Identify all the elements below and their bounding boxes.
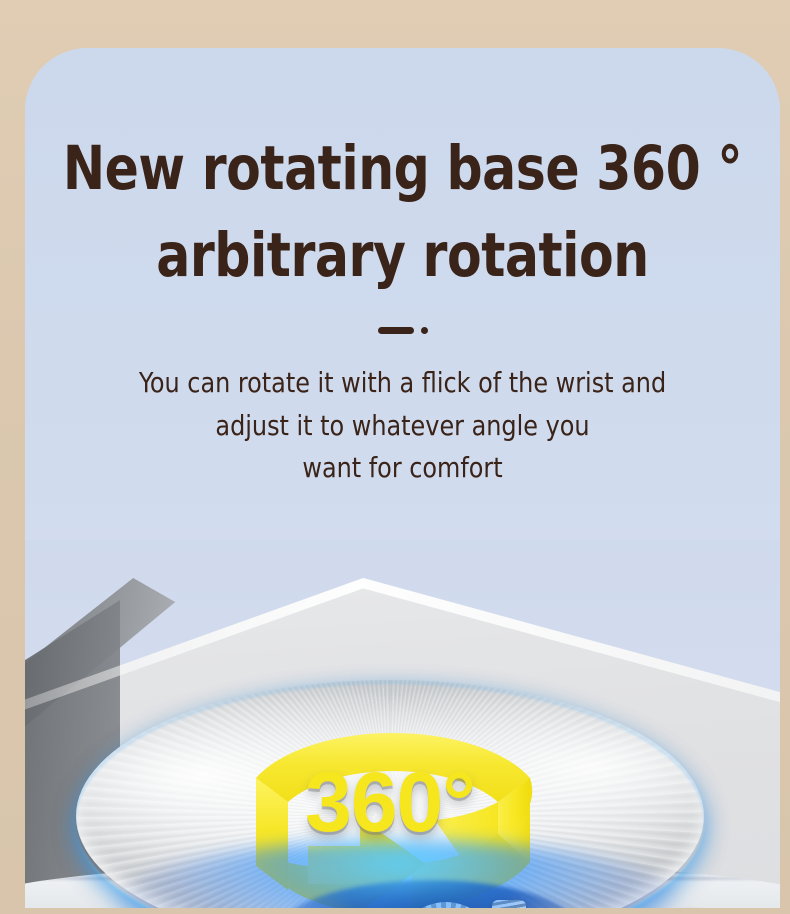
hero-subtitle-line-2: adjust it to whatever angle you: [44, 405, 761, 448]
hero-card: New rotating base 360 ° arbitrary rotati…: [25, 48, 780, 908]
divider-dash-icon: [378, 327, 414, 334]
product-feature-page: New rotating base 360 ° arbitrary rotati…: [0, 0, 790, 914]
hero-subtitle-line-1: You can rotate it with a flick of the wr…: [44, 362, 761, 405]
product-photo: 360°: [25, 540, 780, 908]
divider-dot-icon: [421, 327, 428, 334]
badge-360-label: 360°: [60, 760, 720, 844]
hero-text-block: New rotating base 360 ° arbitrary rotati…: [25, 48, 780, 490]
hero-subtitle: You can rotate it with a flick of the wr…: [44, 362, 761, 490]
hero-title-line-1: New rotating base 360 °: [55, 126, 750, 213]
hero-title-line-2: arbitrary rotation: [55, 213, 750, 300]
title-divider: [25, 327, 780, 334]
hero-subtitle-line-3: want for comfort: [44, 447, 761, 490]
